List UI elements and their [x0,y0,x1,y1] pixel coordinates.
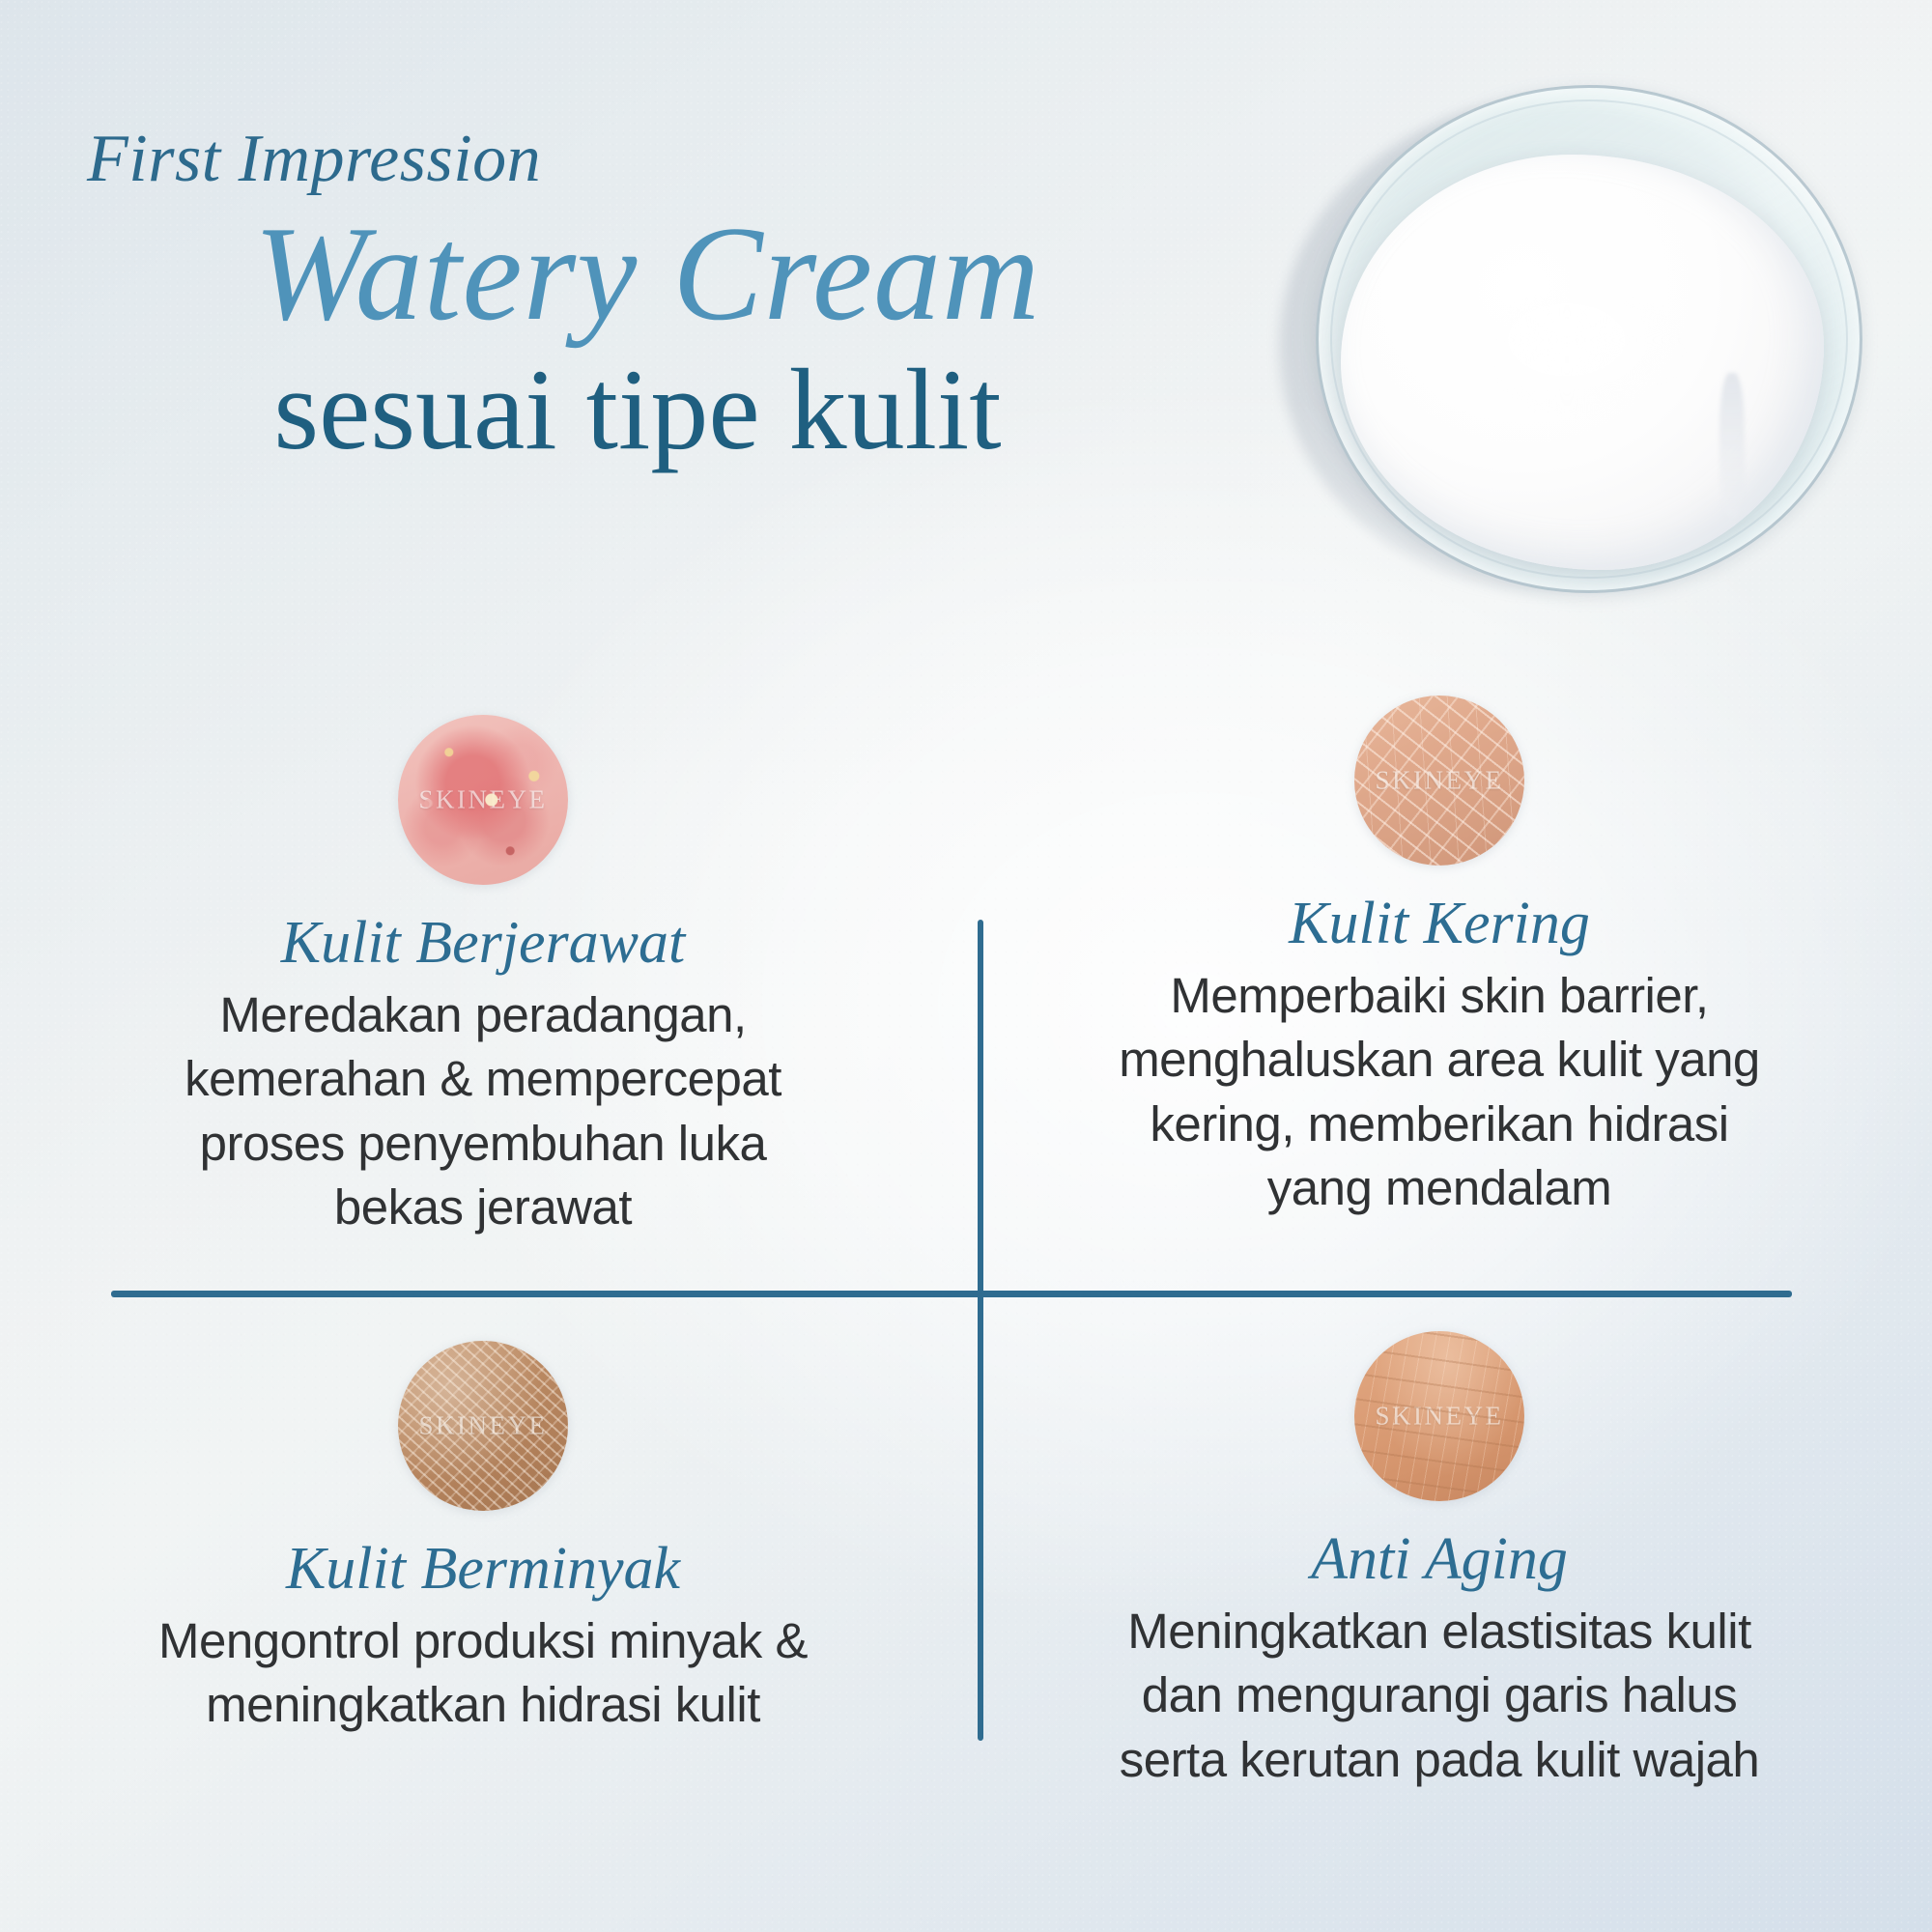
swatch-watermark: SKINEYE [1354,766,1524,796]
quadrant-title-oily: Kulit Berminyak [68,1536,898,1602]
quadrant-title-acne: Kulit Berjerawat [68,910,898,976]
aging-skin-sample-icon: SKINEYE [1354,1331,1524,1501]
quadrant-body-dry: Memperbaiki skin barrier, menghaluskan a… [1101,964,1777,1220]
quadrant-body-acne: Meredakan peradangan, kemerahan & memper… [135,983,831,1239]
horizontal-divider [111,1291,1792,1297]
quadrant-title-aging: Anti Aging [1024,1526,1855,1592]
cream-highlight [1486,290,1689,415]
quadrant-acne: SKINEYE Kulit Berjerawat Meredakan perad… [68,715,898,1239]
oily-skin-sample-icon: SKINEYE [398,1341,568,1511]
page-subtitle: sesuai tipe kulit [87,349,1227,470]
quadrant-body-oily: Mengontrol produksi minyak & meningkatka… [135,1609,831,1738]
eyebrow-text: First Impression [87,126,1227,193]
cream-fold [1719,373,1745,518]
vertical-divider [978,920,983,1741]
page-title: Watery Cream [87,203,1227,345]
dry-skin-sample-icon: SKINEYE [1354,696,1524,866]
petri-dish-cream-icon [1273,75,1891,616]
quadrant-dry: SKINEYE Kulit Kering Memperbaiki skin ba… [1024,696,1855,1220]
swatch-watermark: SKINEYE [398,1411,568,1441]
quadrant-body-aging: Meningkatkan elastisitas kulit dan mengu… [1101,1600,1777,1792]
acne-skin-sample-icon: SKINEYE [398,715,568,885]
header-block: First Impression Watery Cream sesuai tip… [87,126,1227,470]
quadrant-title-dry: Kulit Kering [1024,891,1855,956]
swatch-watermark: SKINEYE [1354,1402,1524,1432]
swatch-watermark: SKINEYE [398,785,568,815]
quadrant-anti-aging: SKINEYE Anti Aging Meningkatkan elastisi… [1024,1331,1855,1792]
quadrant-oily: SKINEYE Kulit Berminyak Mengontrol produ… [68,1341,898,1738]
infographic-poster: First Impression Watery Cream sesuai tip… [0,0,1932,1932]
